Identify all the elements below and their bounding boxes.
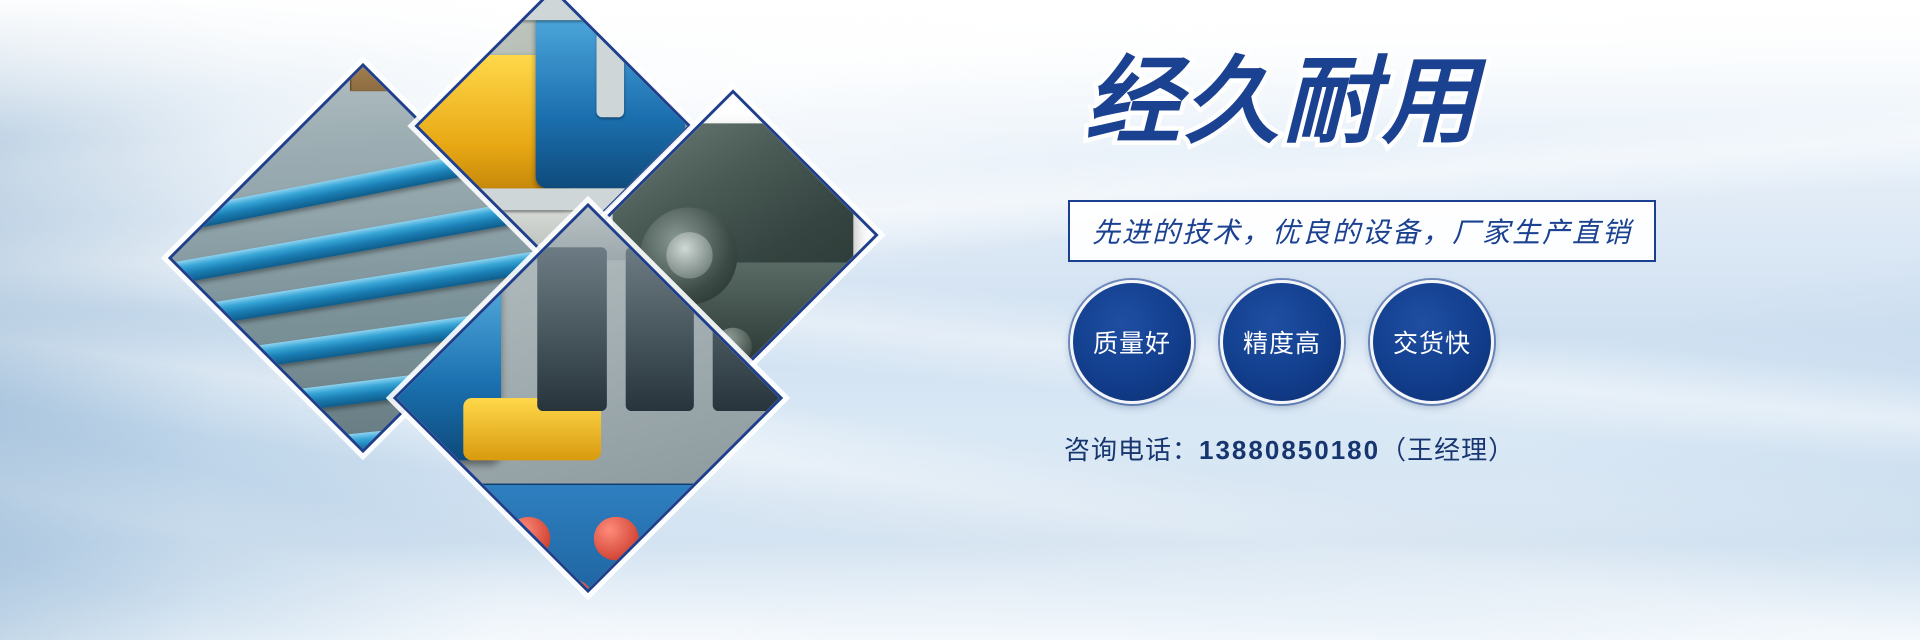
contact-suffix: （王经理） [1380,435,1515,465]
subtitle-box: 先进的技术，优良的设备，厂家生产直销 [1068,200,1656,262]
badge-label: 质量好 [1093,324,1171,360]
headline: 经久耐用 [1085,55,1481,150]
contact-line: 咨询电话：13880850180（王经理） [1064,430,1515,467]
badge-label: 精度高 [1243,324,1321,360]
badge-label: 交货快 [1393,324,1471,360]
contact-prefix: 咨询电话： [1064,435,1199,465]
contact-phone-number[interactable]: 13880850180 [1199,435,1380,465]
feature-badges: 质量好 精度高 交货快 [1070,280,1494,404]
subtitle-text: 先进的技术，优良的设备，厂家生产直销 [1092,217,1632,248]
product-photo-cluster [150,10,850,630]
badge-quality[interactable]: 质量好 [1070,280,1194,404]
badge-precision[interactable]: 精度高 [1220,280,1344,404]
banner-content: 经久耐用 先进的技术，优良的设备，厂家生产直销 质量好 精度高 交货快 咨询电话… [1040,0,1800,640]
badge-delivery[interactable]: 交货快 [1370,280,1494,404]
promo-banner: 经久耐用 先进的技术，优良的设备，厂家生产直销 质量好 精度高 交货快 咨询电话… [0,0,1920,640]
